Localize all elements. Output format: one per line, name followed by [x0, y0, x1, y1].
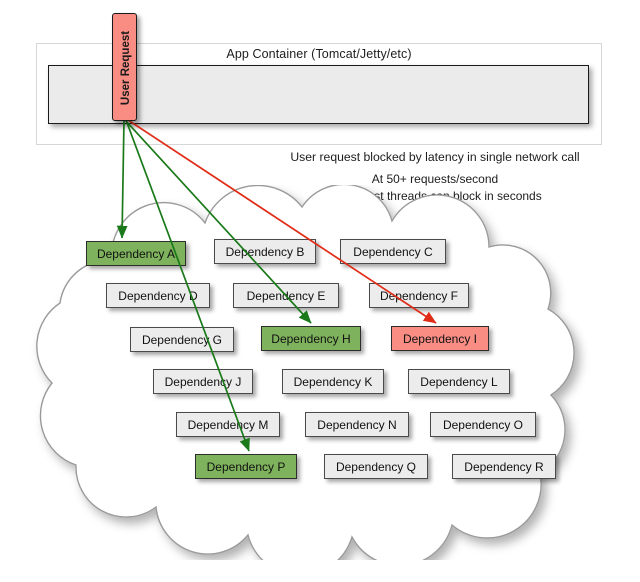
diagram-canvas: App Container (Tomcat/Jetty/etc) User Re…: [0, 0, 640, 582]
dependency-label: Dependency D: [118, 289, 197, 303]
dependency-label: Dependency H: [271, 332, 350, 346]
user-request-bar[interactable]: User Request: [112, 13, 137, 121]
dependency-box-g[interactable]: Dependency G: [130, 327, 234, 352]
dependency-label: Dependency M: [188, 418, 269, 432]
dependency-box-r[interactable]: Dependency R: [452, 454, 556, 479]
dependency-box-b[interactable]: Dependency B: [214, 239, 316, 264]
dependency-label: Dependency B: [226, 245, 305, 259]
dependency-box-c[interactable]: Dependency C: [340, 239, 446, 264]
dependency-box-n[interactable]: Dependency N: [305, 412, 409, 437]
dependency-box-l[interactable]: Dependency L: [408, 369, 510, 394]
dependency-label: Dependency G: [142, 333, 222, 347]
note-requests-per-second: At 50+ requests/second: [250, 172, 620, 186]
dependency-label: Dependency E: [247, 289, 326, 303]
dependency-label: Dependency N: [317, 418, 396, 432]
note-latency-blocked: User request blocked by latency in singl…: [250, 150, 620, 164]
dependency-box-o[interactable]: Dependency O: [430, 412, 536, 437]
dependency-label: Dependency C: [353, 245, 432, 259]
dependency-box-j[interactable]: Dependency J: [153, 369, 253, 394]
dependency-label: Dependency O: [443, 418, 523, 432]
dependency-label: Dependency F: [380, 289, 458, 303]
dependency-label: Dependency K: [294, 375, 373, 389]
dependency-box-h[interactable]: Dependency H: [261, 326, 361, 351]
user-request-label: User Request: [113, 14, 138, 122]
dependency-box-q[interactable]: Dependency Q: [324, 454, 428, 479]
dependency-label: Dependency I: [403, 332, 477, 346]
dependency-label: Dependency Q: [336, 460, 416, 474]
dependency-label: Dependency P: [207, 460, 286, 474]
dependency-label: Dependency A: [97, 247, 175, 261]
dependency-label: Dependency J: [165, 375, 242, 389]
dependency-label: Dependency L: [420, 375, 497, 389]
dependency-box-d[interactable]: Dependency D: [106, 283, 210, 308]
dependency-box-f[interactable]: Dependency F: [369, 283, 469, 308]
dependency-box-k[interactable]: Dependency K: [282, 369, 384, 394]
dependency-box-a[interactable]: Dependency A: [86, 241, 186, 266]
dependency-box-m[interactable]: Dependency M: [176, 412, 280, 437]
dependency-box-p[interactable]: Dependency P: [195, 454, 297, 479]
dependency-box-e[interactable]: Dependency E: [233, 283, 339, 308]
dependency-box-i[interactable]: Dependency I: [391, 326, 489, 351]
dependency-label: Dependency R: [464, 460, 543, 474]
